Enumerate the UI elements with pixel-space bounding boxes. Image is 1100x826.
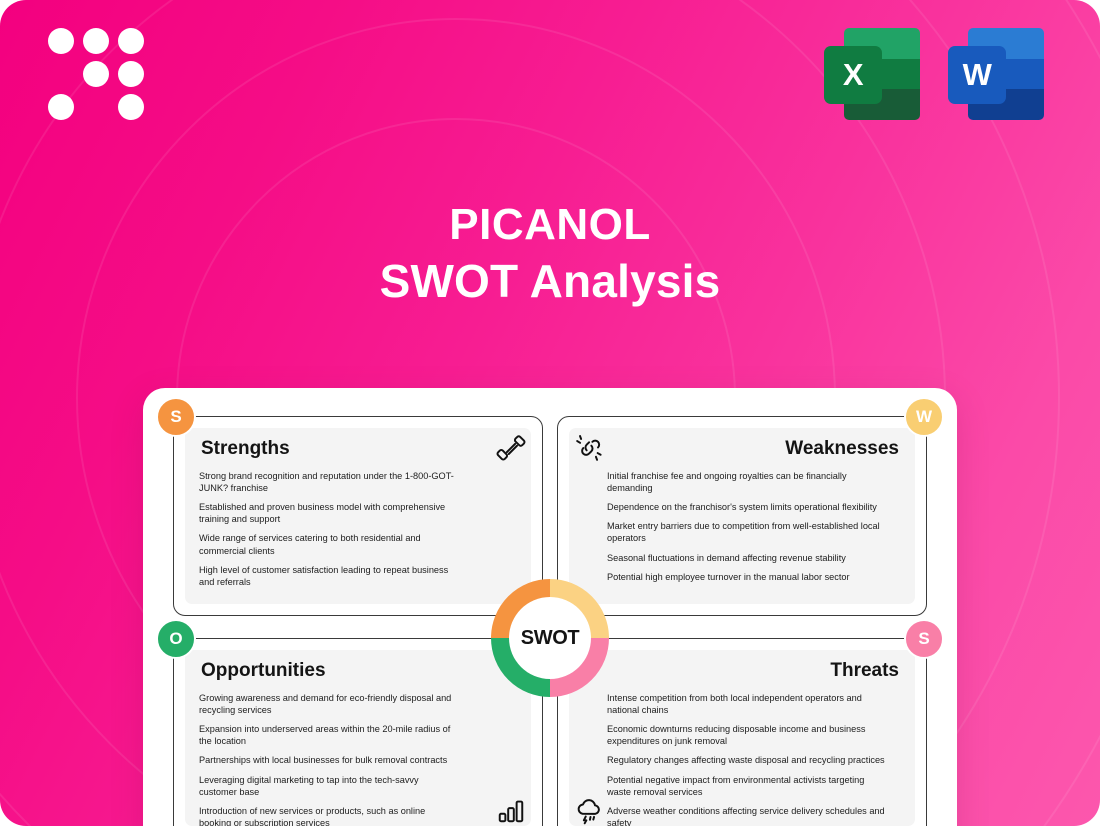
swot-center-hub: SWOT [491,579,609,697]
bar-chart-icon [496,795,526,825]
list-item: Wide range of services catering to both … [199,532,517,556]
weaknesses-point-list: Initial franchise fee and ongoing royalt… [583,470,901,583]
title-block: PICANOL SWOT Analysis [0,198,1100,311]
list-item: Established and proven business model wi… [199,501,517,525]
list-item: Initial franchise fee and ongoing royalt… [583,470,901,494]
list-item: Market entry barriers due to competition… [583,520,901,544]
quadrant-strengths-content: Strengths Strong brand recognition and r… [185,428,531,604]
quadrant-weaknesses-content: Weaknesses Initial franchise fee and ong… [569,428,915,604]
quadrant-opportunities[interactable]: O Opportunities Growing awareness and de… [173,638,543,826]
dumbbell-icon [496,433,526,463]
logo-dot [48,94,74,120]
quadrant-weaknesses[interactable]: W Weaknesses Initial franch [557,416,927,616]
swot-infographic-page: X W PICANOL SWOT Analysis S [0,0,1100,826]
list-item: Economic downturns reducing disposable i… [583,723,901,747]
excel-letter: X [824,46,882,104]
excel-icon[interactable]: X [824,28,920,120]
badge-strengths: S [156,397,196,437]
strengths-point-list: Strong brand recognition and reputation … [199,470,517,588]
badge-weaknesses: W [904,397,944,437]
logo-dot [83,28,109,54]
list-item: Expansion into underserved areas within … [199,723,517,747]
badge-threats: S [904,619,944,659]
quadrant-title-threats: Threats [583,661,901,682]
word-icon[interactable]: W [948,28,1044,120]
swot-hub-core: SWOT [509,597,591,679]
list-item: Seasonal fluctuations in demand affectin… [583,552,901,564]
quadrant-threats-content: Threats Intense competition from both lo… [569,650,915,826]
logo-dot [83,61,109,87]
list-item: Growing awareness and demand for eco-fri… [199,692,517,716]
logo-dot [118,28,144,54]
logo-dot [48,28,74,54]
threats-point-list: Intense competition from both local inde… [583,692,901,826]
swot-panel: S Strengths Strong brand recognition and… [143,388,957,826]
swot-hub-label: SWOT [521,627,579,650]
quadrant-opportunities-content: Opportunities Growing awareness and dema… [185,650,531,826]
list-item: Regulatory changes affecting waste dispo… [583,754,901,766]
list-item: Strong brand recognition and reputation … [199,470,517,494]
opportunities-point-list: Growing awareness and demand for eco-fri… [199,692,517,826]
quadrant-threats[interactable]: S Threats Intense competition from both … [557,638,927,826]
list-item: Potential negative impact from environme… [583,774,901,798]
company-name: PICANOL [0,198,1100,252]
quadrant-strengths[interactable]: S Strengths Strong brand recognition and… [173,416,543,616]
list-item: Potential high employee turnover in the … [583,571,901,583]
office-export-icons: X W [824,28,1044,120]
badge-opportunities: O [156,619,196,659]
swot-quadrant-grid: S Strengths Strong brand recognition and… [173,416,927,826]
picanol-dot-grid-logo [48,28,144,120]
quadrant-title-weaknesses: Weaknesses [583,439,901,460]
list-item: High level of customer satisfaction lead… [199,564,517,588]
list-item: Intense competition from both local inde… [583,692,901,716]
list-item: Adverse weather conditions affecting ser… [583,805,901,826]
page-title: SWOT Analysis [0,252,1100,311]
storm-cloud-icon [574,795,604,825]
logo-dot [118,61,144,87]
quadrant-title-opportunities: Opportunities [199,661,517,682]
word-letter: W [948,46,1006,104]
list-item: Dependence on the franchisor's system li… [583,501,901,513]
list-item: Introduction of new services or products… [199,805,517,826]
quadrant-title-strengths: Strengths [199,439,517,460]
broken-link-icon [574,433,604,463]
logo-dot [118,94,144,120]
list-item: Leveraging digital marketing to tap into… [199,774,517,798]
list-item: Partnerships with local businesses for b… [199,754,517,766]
